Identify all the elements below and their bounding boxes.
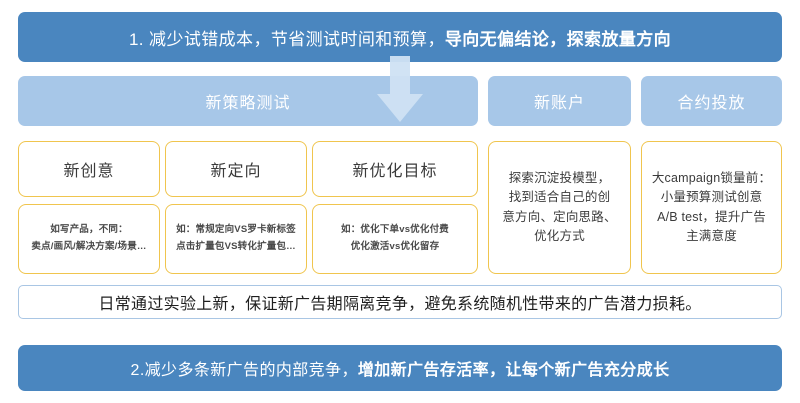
detail-line: 优化方式 — [534, 227, 585, 246]
detail-box-new-optimization-goal: 如：优化下单vs优化付费 优化激活vs优化留存 — [312, 204, 478, 274]
header-new-account[interactable]: 新账户 — [488, 76, 631, 126]
top-banner-text: 1. 减少试错成本，节省测试时间和预算，导向无偏结论，探索放量方向 — [129, 25, 671, 50]
arrow-down-icon — [376, 56, 424, 128]
title-box-new-creative[interactable]: 新创意 — [18, 141, 160, 197]
top-banner-emphasis: 导向无偏结论，探索放量方向 — [445, 30, 671, 49]
callout-text: 日常通过实验上新，保证新广告期隔离竞争，避免系统随机性带来的广告潜力损耗。 — [98, 290, 701, 314]
detail-box-new-account: 探索沉淀投模型， 找到适合自己的创 意方向、定向思路、 优化方式 — [488, 141, 631, 274]
detail-line: 意方向、定向思路、 — [502, 208, 616, 227]
detail-line: 大campaign锁量前： — [652, 169, 771, 188]
header-contract-delivery[interactable]: 合约投放 — [641, 76, 782, 126]
bottom-banner-emphasis: 增加新广告存活率，让每个新广告充分成长 — [358, 362, 670, 379]
title-box-new-targeting[interactable]: 新定向 — [165, 141, 307, 197]
bottom-banner-text: 2.减少多条新广告的内部竞争，增加新广告存活率，让每个新广告充分成长 — [131, 356, 670, 380]
detail-line: 如：优化下单vs优化付费 — [341, 222, 449, 239]
detail-line: A/B test，提升广告 — [657, 208, 766, 227]
title-label: 新定向 — [210, 157, 261, 181]
header-label: 新账户 — [534, 89, 585, 113]
detail-box-new-creative: 如写产品，不同： 卖点/画风/解决方案/场景… — [18, 204, 160, 274]
detail-line: 卖点/画风/解决方案/场景… — [31, 239, 146, 256]
detail-line: 小量预算测试创意 — [661, 188, 763, 207]
header-label: 合约投放 — [677, 89, 745, 113]
header-label: 新策略测试 — [205, 89, 290, 113]
slide-canvas: 1. 减少试错成本，节省测试时间和预算，导向无偏结论，探索放量方向 新策略测试 … — [0, 0, 800, 403]
top-banner: 1. 减少试错成本，节省测试时间和预算，导向无偏结论，探索放量方向 — [18, 12, 782, 62]
detail-box-new-targeting: 如：常规定向VS罗卡新标签 点击扩量包VS转化扩量包… — [165, 204, 307, 274]
bottom-banner-prefix: 2.减少多条新广告的内部竞争， — [131, 362, 358, 379]
detail-line: 主满意度 — [686, 227, 737, 246]
title-label: 新优化目标 — [352, 157, 437, 181]
detail-line: 如写产品，不同： — [50, 222, 128, 239]
detail-line: 如：常规定向VS罗卡新标签 — [176, 222, 296, 239]
detail-box-contract-delivery: 大campaign锁量前： 小量预算测试创意 A/B test，提升广告 主满意… — [641, 141, 782, 274]
detail-line: 探索沉淀投模型， — [509, 169, 611, 188]
callout-banner: 日常通过实验上新，保证新广告期隔离竞争，避免系统随机性带来的广告潜力损耗。 — [18, 285, 782, 319]
title-label: 新创意 — [63, 157, 114, 181]
detail-line: 优化激活vs优化留存 — [351, 239, 440, 256]
detail-line: 点击扩量包VS转化扩量包… — [176, 239, 296, 256]
bottom-banner: 2.减少多条新广告的内部竞争，增加新广告存活率，让每个新广告充分成长 — [18, 345, 782, 391]
detail-line: 找到适合自己的创 — [509, 188, 611, 207]
top-banner-prefix: 1. 减少试错成本，节省测试时间和预算， — [129, 30, 445, 49]
title-box-new-optimization-goal[interactable]: 新优化目标 — [312, 141, 478, 197]
